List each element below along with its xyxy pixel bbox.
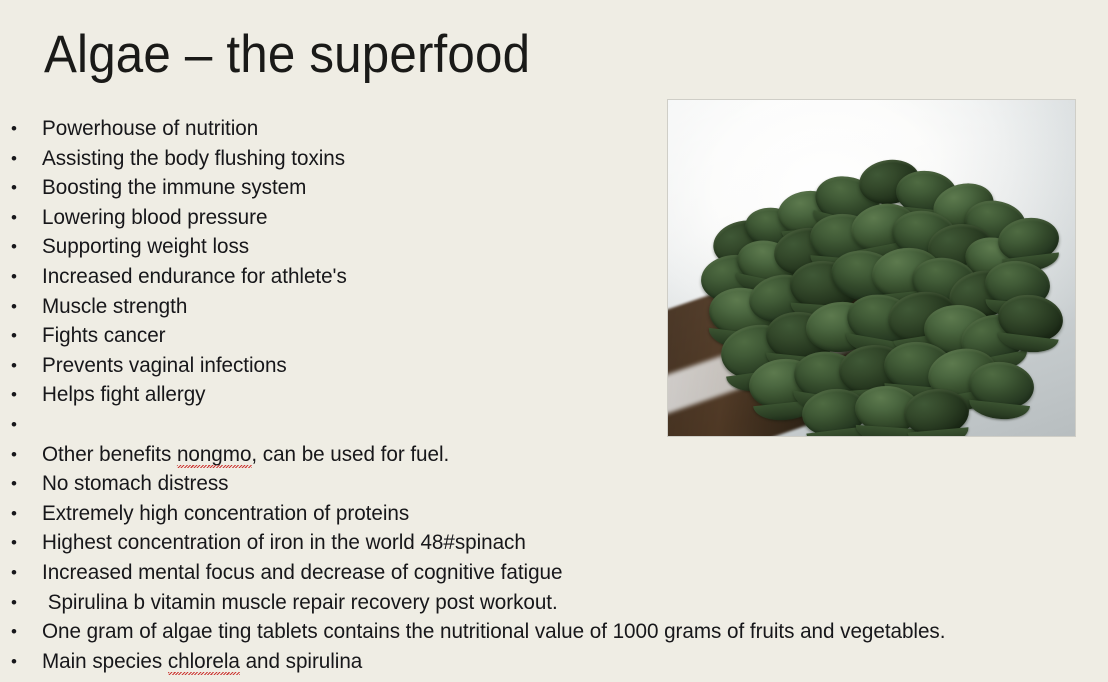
- list-item: •Other benefits nongmo, can be used for …: [0, 440, 1108, 470]
- list-item-label: Other benefits nongmo, can be used for f…: [42, 440, 449, 470]
- bullet-marker-icon: •: [11, 144, 25, 174]
- list-item-label: No stomach distress: [42, 469, 228, 499]
- list-item-label: Prevents vaginal infections: [42, 351, 287, 381]
- list-item-label: Assisting the body flushing toxins: [42, 144, 345, 174]
- misspelled-word: nongmo: [177, 440, 251, 470]
- bullet-marker-icon: •: [11, 617, 25, 647]
- list-item-label: Powerhouse of nutrition: [42, 114, 258, 144]
- algae-tablets-photo: [668, 100, 1075, 436]
- bullet-marker-icon: •: [11, 558, 25, 588]
- page-title: Algae – the superfood: [44, 24, 530, 87]
- list-item-label: Muscle strength: [42, 292, 187, 322]
- list-item-label: Helps fight allergy: [42, 380, 205, 410]
- list-item-label: Boosting the immune system: [42, 173, 306, 203]
- bullet-marker-icon: •: [11, 173, 25, 203]
- list-item: •Highest concentration of iron in the wo…: [0, 528, 1108, 558]
- list-item-label: Increased mental focus and decrease of c…: [42, 558, 562, 588]
- bullet-marker-icon: •: [11, 292, 25, 322]
- list-item-label: Extremely high concentration of proteins: [42, 499, 409, 529]
- list-item: •One gram of algae ting tablets contains…: [0, 617, 1108, 647]
- presentation-slide: Algae – the superfood •Powerhouse of nut…: [0, 0, 1108, 682]
- misspelled-word: chlorela: [168, 647, 240, 677]
- bullet-marker-icon: •: [11, 380, 25, 410]
- bullet-marker-icon: •: [11, 351, 25, 381]
- list-item-label: Fights cancer: [42, 321, 166, 351]
- list-item-label: Supporting weight loss: [42, 232, 249, 262]
- list-item-label: Main species chlorela and spirulina: [42, 647, 362, 677]
- list-item: •Extremely high concentration of protein…: [0, 499, 1108, 529]
- bullet-marker-icon: •: [11, 410, 25, 440]
- list-item: •No stomach distress: [0, 469, 1108, 499]
- bullet-marker-icon: •: [11, 232, 25, 262]
- bullet-marker-icon: •: [11, 114, 25, 144]
- list-item-label: One gram of algae ting tablets contains …: [42, 617, 945, 647]
- bullet-marker-icon: •: [11, 262, 25, 292]
- bullet-marker-icon: •: [11, 647, 25, 677]
- list-item-label: Highest concentration of iron in the wor…: [42, 528, 526, 558]
- list-item-label: Increased endurance for athlete's: [42, 262, 347, 292]
- bullet-marker-icon: •: [11, 528, 25, 558]
- bullet-marker-icon: •: [11, 469, 25, 499]
- list-item: •Main species chlorela and spirulina: [0, 647, 1108, 677]
- list-item-label: Spirulina b vitamin muscle repair recove…: [42, 588, 558, 618]
- bullet-marker-icon: •: [11, 203, 25, 233]
- bullet-marker-icon: •: [11, 499, 25, 529]
- bullet-marker-icon: •: [11, 440, 25, 470]
- photo-plate-layer: [668, 100, 1075, 436]
- list-item: • Spirulina b vitamin muscle repair reco…: [0, 588, 1108, 618]
- list-item: •Increased mental focus and decrease of …: [0, 558, 1108, 588]
- bullet-marker-icon: •: [11, 321, 25, 351]
- list-item-label: Lowering blood pressure: [42, 203, 267, 233]
- bullet-marker-icon: •: [11, 588, 25, 618]
